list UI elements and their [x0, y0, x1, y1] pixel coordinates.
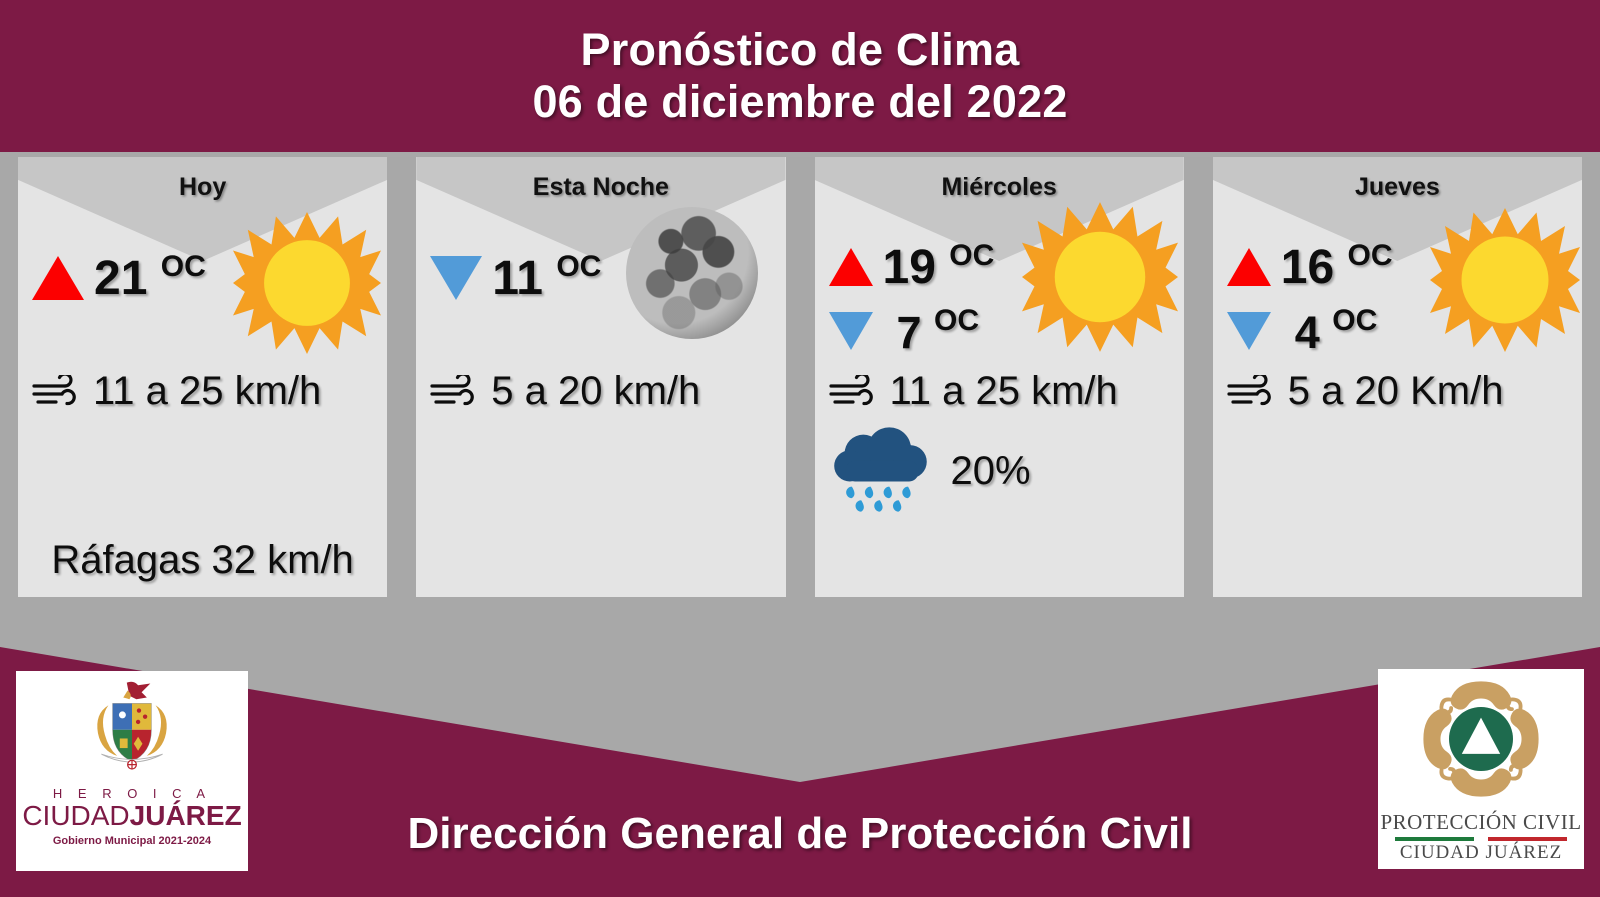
bar-gap [1474, 837, 1488, 841]
forecast-cards-row: Hoy 21 OC [0, 157, 1600, 597]
low-temp-value: 11 OC [492, 250, 601, 306]
logo-ciudad-juarez-text: CIUDAD JUÁREZ [1400, 842, 1562, 864]
full-moon-disc [626, 207, 758, 339]
page-title-line-2: 06 de diciembre del 2022 [532, 77, 1067, 127]
logo-color-bars [1395, 837, 1567, 841]
sun-icon [1430, 205, 1580, 355]
civil-protection-emblem-icon [1417, 675, 1545, 808]
wind-value: 5 a 20 km/h [491, 369, 700, 414]
temp-up-triangle-icon [32, 256, 84, 300]
wind-row: 5 a 20 Km/h [1227, 369, 1568, 414]
wind-icon [32, 375, 84, 409]
card-day-label: Hoy [18, 173, 387, 202]
wind-value: 11 a 25 km/h [93, 369, 321, 414]
wind-icon [829, 375, 881, 409]
heroica-ciudad-juarez-logo: H E R O I C A CIUDADJUÁREZ Gobierno Muni… [16, 671, 248, 871]
temp-down-triangle-icon [1227, 312, 1271, 350]
wind-icon [1227, 375, 1279, 409]
sun-icon [1022, 199, 1178, 355]
temp-up-triangle-icon [1227, 248, 1271, 286]
high-temp-value: 21 OC [94, 250, 206, 306]
high-temp-value: 19 OC [883, 239, 995, 295]
footer: H E R O I C A CIUDADJUÁREZ Gobierno Muni… [0, 647, 1600, 897]
green-bar [1395, 837, 1474, 841]
wind-row: 5 a 20 km/h [430, 369, 771, 414]
wind-value: 11 a 25 km/h [890, 369, 1118, 414]
header: Pronóstico de Clima 06 de diciembre del … [0, 0, 1600, 152]
wind-value: 5 a 20 Km/h [1288, 369, 1504, 414]
sun-icon [233, 209, 381, 357]
red-bar [1488, 837, 1567, 841]
temp-up-triangle-icon [829, 248, 873, 286]
forecast-card-miercoles[interactable]: Miércoles 19 OC 7 OC [815, 157, 1184, 597]
card-day-label: Jueves [1213, 173, 1582, 202]
logo-heroica-text: H E R O I C A [53, 786, 211, 801]
rain-cloud-icon [829, 426, 933, 517]
card-day-label: Esta Noche [416, 173, 785, 202]
proteccion-civil-logo: PROTECCIÓN CIVIL CIUDAD JUÁREZ [1378, 669, 1584, 869]
card-day-label: Miércoles [815, 173, 1184, 202]
rain-chance-value: 20% [951, 449, 1031, 494]
low-temp-value: 4 OC [1295, 304, 1378, 359]
forecast-card-hoy[interactable]: Hoy 21 OC [18, 157, 387, 597]
temp-down-triangle-icon [430, 256, 482, 300]
logo-ciudad-juarez-text: CIUDADJUÁREZ [22, 802, 241, 830]
wind-row: 11 a 25 km/h [829, 369, 1170, 414]
logo-gobierno-text: Gobierno Municipal 2021-2024 [53, 835, 211, 847]
wind-row: 11 a 25 km/h [32, 369, 373, 414]
high-temp-value: 16 OC [1281, 239, 1393, 295]
forecast-card-jueves[interactable]: Jueves 16 OC 4 OC [1213, 157, 1582, 597]
temp-down-triangle-icon [829, 312, 873, 350]
wind-icon [430, 375, 482, 409]
rain-row: 20% [829, 426, 1170, 517]
logo-proteccion-civil-text: PROTECCIÓN CIVIL [1380, 810, 1581, 835]
coat-of-arms-icon [84, 679, 180, 782]
forecast-card-esta-noche[interactable]: Esta Noche 11 OC [416, 157, 785, 597]
moon-icon [626, 207, 758, 339]
low-temp-value: 7 OC [897, 304, 980, 359]
page-title-line-1: Pronóstico de Clima [581, 25, 1020, 75]
